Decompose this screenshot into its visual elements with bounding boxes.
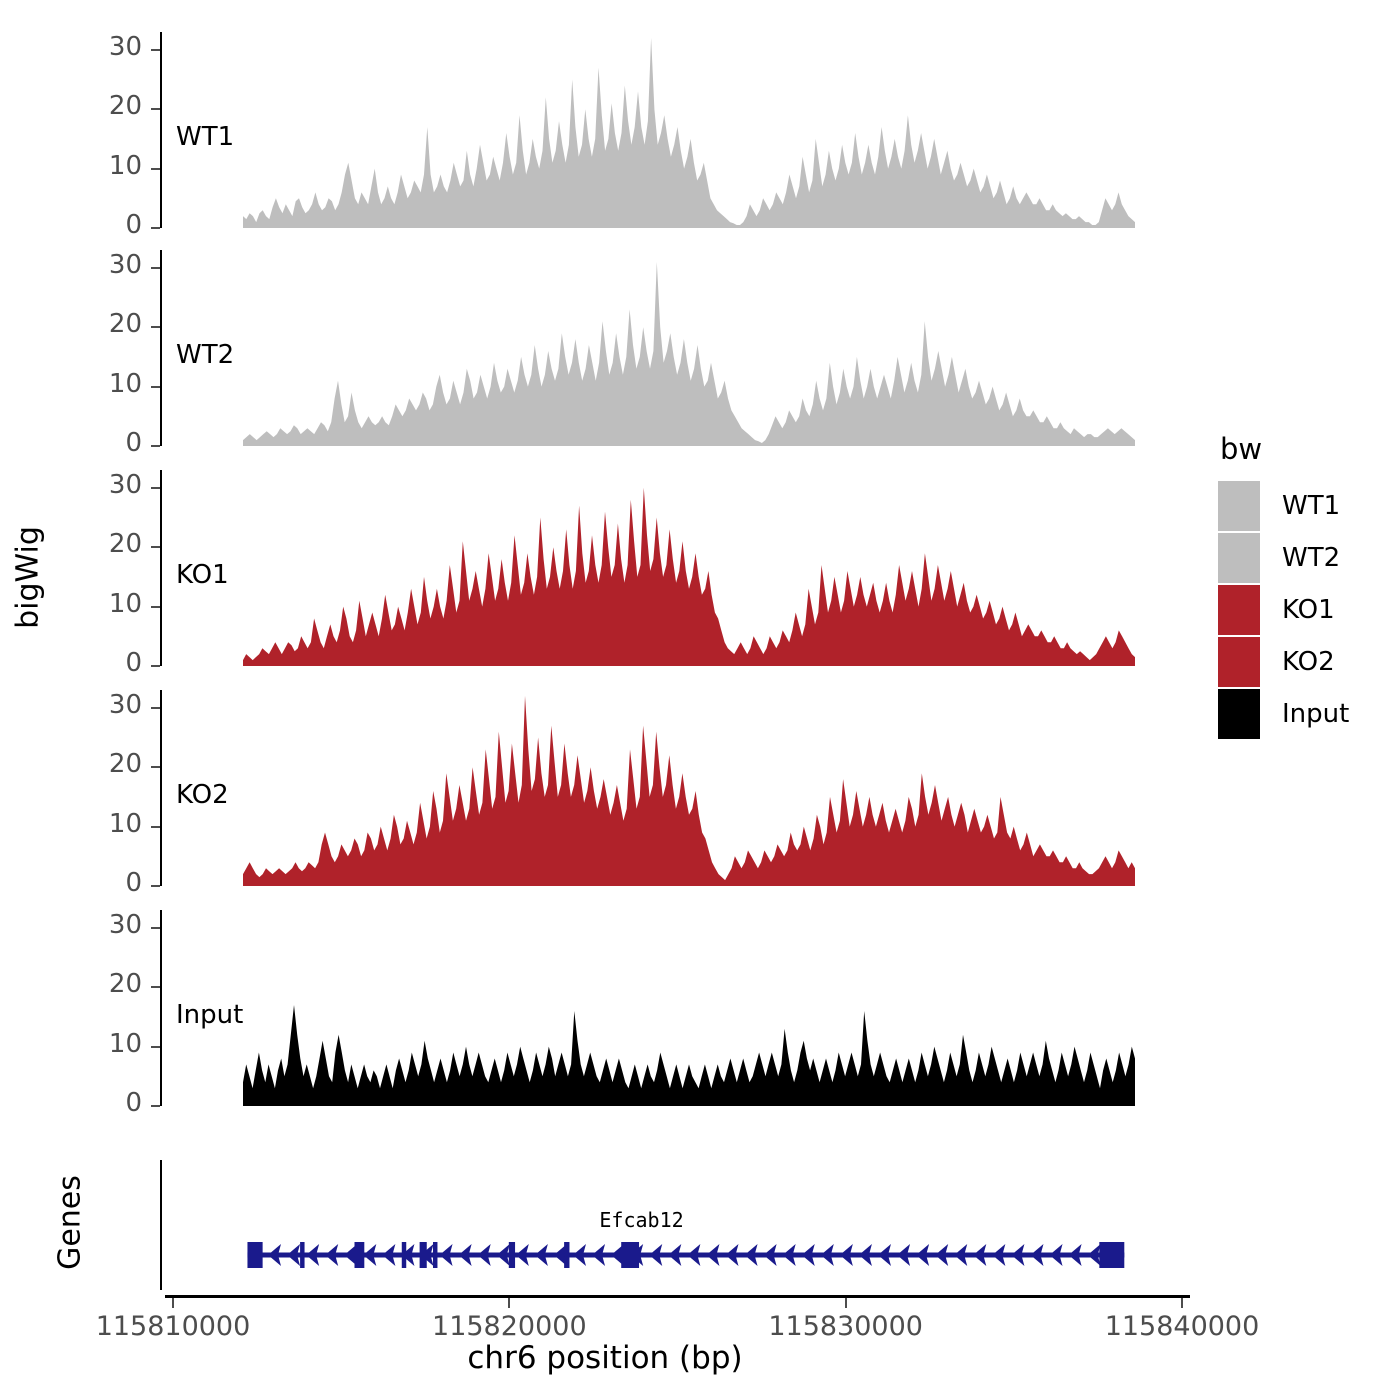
y-tick-label: 10 — [22, 1031, 142, 1057]
track-area-path-wt1 — [162, 32, 1192, 228]
gene-exon — [355, 1242, 365, 1268]
y-tick-mark — [151, 885, 160, 887]
x-tick-label: 115820000 — [399, 1311, 619, 1342]
signal-track-wt1: 0102030WT1 — [0, 32, 1400, 228]
y-tick-mark — [151, 386, 160, 388]
signal-track-ko2: 0102030KO2 — [0, 690, 1400, 886]
track-area-path-wt2 — [162, 250, 1192, 446]
y-tick-label: 10 — [22, 153, 142, 179]
y-tick-label: 20 — [22, 311, 142, 337]
y-tick-label: 30 — [22, 912, 142, 938]
track-plot-area — [162, 910, 1192, 1106]
x-tick-mark — [508, 1298, 510, 1308]
legend-swatch-ko1 — [1218, 585, 1260, 635]
track-area-path-ko2 — [162, 690, 1192, 886]
y-tick-mark — [151, 927, 160, 929]
x-tick-label: 115810000 — [63, 1311, 283, 1342]
legend-item-wt1[interactable]: WT1 — [1218, 480, 1393, 532]
y-tick-label: 30 — [22, 472, 142, 498]
y-tick-mark — [151, 986, 160, 988]
x-tick-label: 115830000 — [736, 1311, 956, 1342]
signal-track-input: 0102030Input — [0, 910, 1400, 1106]
y-tick-label: 30 — [22, 34, 142, 60]
track-plot-area — [162, 470, 1192, 666]
y-tick-mark — [151, 1046, 160, 1048]
y-tick-mark — [151, 1105, 160, 1107]
gene-exon — [564, 1242, 569, 1268]
legend-item-ko1[interactable]: KO1 — [1218, 584, 1393, 636]
x-tick-mark — [845, 1298, 847, 1308]
legend-label-ko2: KO2 — [1282, 647, 1335, 677]
legend-label-wt1: WT1 — [1282, 491, 1340, 521]
y-tick-label: 10 — [22, 591, 142, 617]
gene-model-svg — [162, 1160, 1192, 1290]
legend: bw WT1WT2KO1KO2Input — [1218, 432, 1393, 740]
gene-exon — [300, 1242, 304, 1268]
y-tick-label: 0 — [22, 650, 142, 676]
legend-items: WT1WT2KO1KO2Input — [1218, 480, 1393, 740]
y-tick-label: 30 — [22, 252, 142, 278]
legend-swatch-ko2 — [1218, 637, 1260, 687]
legend-label-wt2: WT2 — [1282, 543, 1340, 573]
track-plot-area — [162, 250, 1192, 446]
track-plot-area — [162, 690, 1192, 886]
track-plot-area — [162, 32, 1192, 228]
legend-swatch-wt1 — [1218, 481, 1260, 531]
legend-swatch-input — [1218, 689, 1260, 739]
legend-label-ko1: KO1 — [1282, 595, 1335, 625]
x-tick-mark — [172, 1298, 174, 1308]
y-tick-mark — [151, 267, 160, 269]
y-tick-mark — [151, 487, 160, 489]
legend-item-input[interactable]: Input — [1218, 688, 1393, 740]
y-tick-mark — [151, 606, 160, 608]
y-tick-label: 20 — [22, 751, 142, 777]
y-tick-label: 0 — [22, 212, 142, 238]
gene-exon — [402, 1242, 406, 1268]
y-tick-label: 0 — [22, 1090, 142, 1116]
gene-exon — [420, 1242, 427, 1268]
y-tick-mark — [151, 108, 160, 110]
x-axis-title: chr6 position (bp) — [0, 1340, 1210, 1376]
y-tick-label: 10 — [22, 811, 142, 837]
legend-swatch-wt2 — [1218, 533, 1260, 583]
y-tick-label: 30 — [22, 692, 142, 718]
x-axis-line — [165, 1295, 1190, 1298]
legend-item-ko2[interactable]: KO2 — [1218, 636, 1393, 688]
y-tick-label: 20 — [22, 531, 142, 557]
y-tick-mark — [151, 766, 160, 768]
gene-exon — [1099, 1242, 1124, 1268]
gene-exon — [621, 1242, 639, 1268]
signal-track-wt2: 0102030WT2 — [0, 250, 1400, 446]
gene-track-panel: Efcab12 — [0, 1160, 1400, 1290]
y-tick-mark — [151, 826, 160, 828]
y-tick-mark — [151, 326, 160, 328]
gene-exon — [433, 1242, 437, 1268]
y-tick-mark — [151, 546, 160, 548]
y-tick-label: 0 — [22, 430, 142, 456]
y-tick-label: 20 — [22, 93, 142, 119]
track-area-path-input — [162, 910, 1192, 1106]
track-area-path-ko1 — [162, 470, 1192, 666]
signal-track-ko1: 0102030KO1 — [0, 470, 1400, 666]
gene-exon — [509, 1242, 515, 1268]
y-tick-mark — [151, 227, 160, 229]
y-tick-mark — [151, 707, 160, 709]
y-tick-label: 0 — [22, 870, 142, 896]
y-tick-mark — [151, 445, 160, 447]
gene-exon — [247, 1242, 262, 1268]
legend-title: bw — [1220, 432, 1393, 466]
x-tick-label: 115840000 — [1072, 1311, 1292, 1342]
y-tick-label: 20 — [22, 971, 142, 997]
legend-label-input: Input — [1282, 699, 1349, 729]
y-tick-label: 10 — [22, 371, 142, 397]
y-tick-mark — [151, 665, 160, 667]
x-tick-mark — [1181, 1298, 1183, 1308]
y-tick-mark — [151, 168, 160, 170]
y-tick-mark — [151, 49, 160, 51]
legend-item-wt2[interactable]: WT2 — [1218, 532, 1393, 584]
